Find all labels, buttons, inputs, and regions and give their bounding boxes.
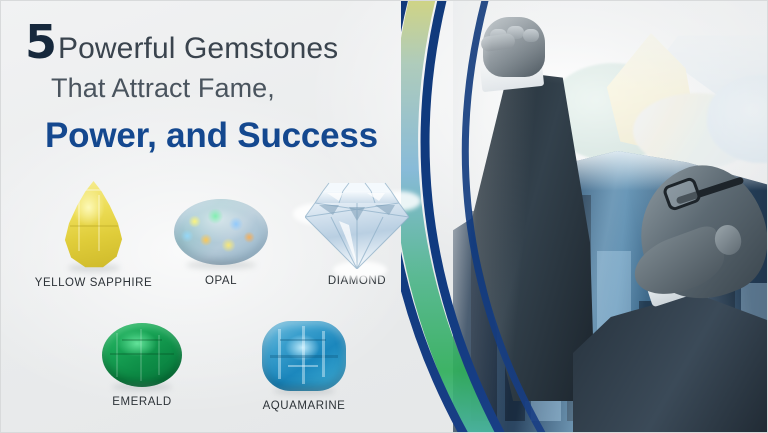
gem-label: YELLOW SAPPHIRE <box>31 277 156 289</box>
gem-card-opal[interactable]: OPAL <box>169 199 273 287</box>
gem-card-yellow-sapphire[interactable]: YELLOW SAPPHIRE <box>31 181 156 289</box>
opal-gem-icon <box>174 199 268 265</box>
gem-label: OPAL <box>169 275 273 287</box>
emerald-gem-icon <box>102 323 182 387</box>
gem-label: EMERALD <box>97 396 187 408</box>
decorative-arc-graphic <box>379 0 719 433</box>
headline-line-1: 5 Powerful Gemstones <box>25 19 415 65</box>
gem-card-diamond[interactable]: DIAMOND <box>299 177 415 287</box>
headline-line-3-accent: Power, and Success <box>45 116 415 156</box>
aquamarine-gem-icon <box>262 321 346 391</box>
headline-number: 5 <box>25 19 56 65</box>
diamond-gem-icon <box>305 177 409 269</box>
headline-line-1-text: Powerful Gemstones <box>58 34 338 64</box>
headline-line-2: That Attract Fame, <box>51 73 415 104</box>
gem-label: AQUAMARINE <box>249 400 359 412</box>
gem-card-aquamarine[interactable]: AQUAMARINE <box>249 321 359 412</box>
yellow-sapphire-gem-icon <box>60 181 128 269</box>
gemstone-infographic-banner: 5 Powerful Gemstones That Attract Fame, … <box>0 0 768 433</box>
gem-card-emerald[interactable]: EMERALD <box>97 323 187 408</box>
headline-block: 5 Powerful Gemstones That Attract Fame, … <box>25 19 415 156</box>
